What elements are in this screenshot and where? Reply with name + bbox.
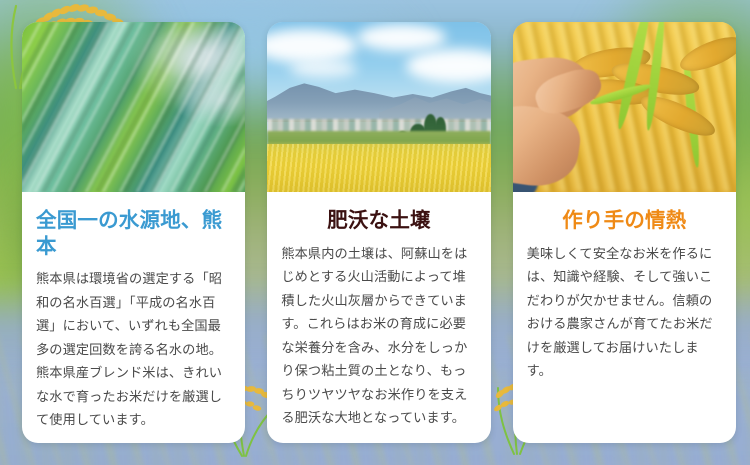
card-title: 全国一の水源地、熊本 [36, 208, 231, 259]
card-description: 熊本県は環境省の選定する「昭和の名水百選」「平成の名水百選」において、いずれも全… [36, 267, 231, 432]
spring-water-photo [22, 22, 245, 192]
card-title: 肥沃な土壌 [281, 208, 476, 234]
card-body: 肥沃な土壌 熊本県内の土壌は、阿蘇山をはじめとする火山活動によって堆積した火山灰… [267, 192, 490, 443]
feature-card-fertile-soil: 肥沃な土壌 熊本県内の土壌は、阿蘇山をはじめとする火山活動によって堆積した火山灰… [267, 22, 490, 443]
card-description: 熊本県内の土壌は、阿蘇山をはじめとする火山活動によって堆積した火山灰層からできて… [281, 242, 476, 430]
mount-aso-paddy-photo [267, 22, 490, 192]
mount-aso-paddy-photo-art [267, 22, 490, 192]
hands-holding-rice-photo [513, 22, 736, 192]
card-description: 美味しくて安全なお米を作るには、知識や経験、そして強いこだわりが欠かせません。信… [527, 242, 722, 383]
promo-banner: 全国一の水源地、熊本 熊本県は環境省の選定する「昭和の名水百選」「平成の名水百選… [0, 0, 750, 465]
feature-card-list: 全国一の水源地、熊本 熊本県は環境省の選定する「昭和の名水百選」「平成の名水百選… [0, 0, 750, 465]
card-body: 作り手の情熱 美味しくて安全なお米を作るには、知識や経験、そして強いこだわりが欠… [513, 192, 736, 443]
card-body: 全国一の水源地、熊本 熊本県は環境省の選定する「昭和の名水百選」「平成の名水百選… [22, 192, 245, 443]
spring-water-photo-art [22, 22, 245, 192]
photo-cloud [290, 59, 357, 78]
feature-card-water-source: 全国一の水源地、熊本 熊本県は環境省の選定する「昭和の名水百選」「平成の名水百選… [22, 22, 245, 443]
photo-cloud [357, 24, 446, 51]
feature-card-growers-passion: 作り手の情熱 美味しくて安全なお米を作るには、知識や経験、そして強いこだわりが欠… [513, 22, 736, 443]
photo-golden-field [267, 144, 490, 192]
hands-holding-rice-photo-art [513, 22, 736, 192]
card-title: 作り手の情熱 [527, 208, 722, 234]
